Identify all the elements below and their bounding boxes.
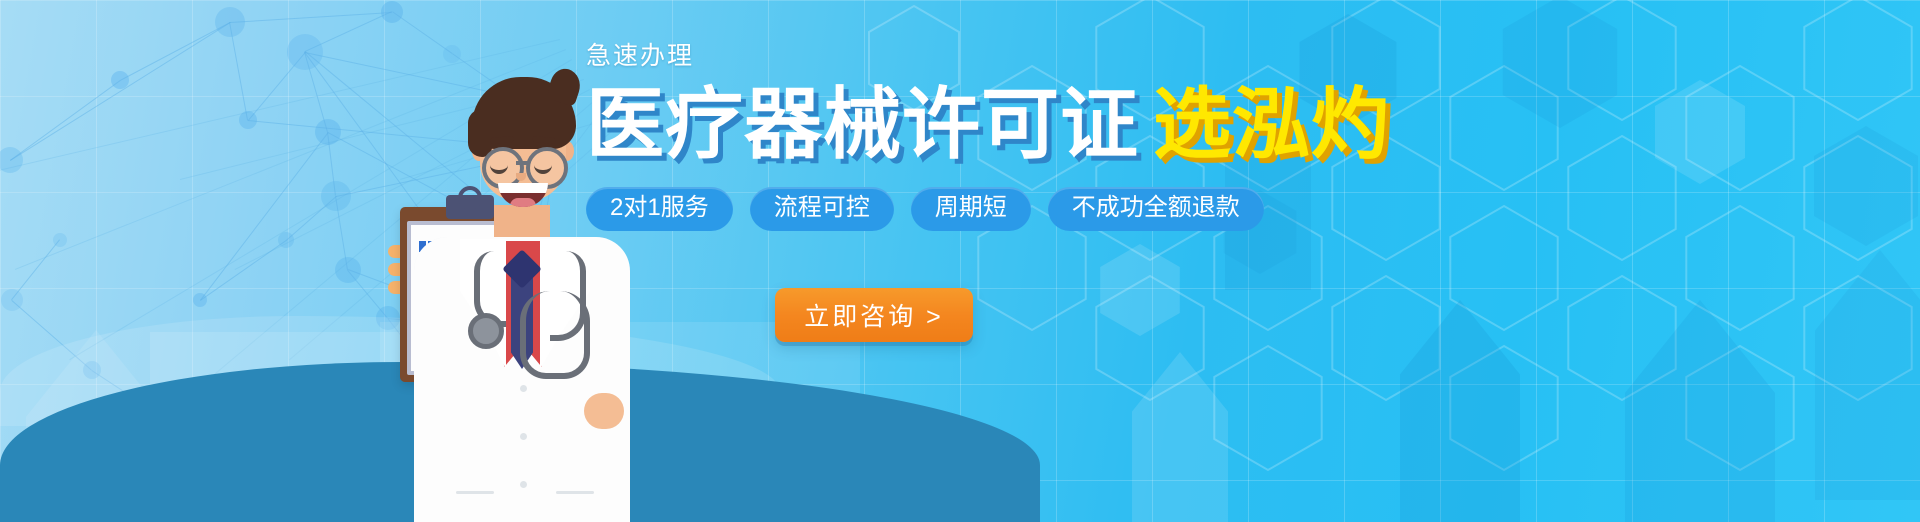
network-edge (335, 196, 348, 270)
arrow-shape (1132, 352, 1228, 522)
network-edge (327, 132, 336, 196)
arrow-shape (1400, 300, 1520, 522)
grid-line-vertical (0, 0, 1, 522)
hexagon-outline (1450, 66, 1557, 190)
grid-line-vertical (1536, 0, 1537, 522)
wave-light (0, 316, 780, 426)
doctor-hair-sideburn (468, 109, 492, 157)
coat-pocket-right (556, 491, 594, 494)
consult-now-button[interactable]: 立即咨询 > (775, 288, 973, 342)
grid-line-vertical (1824, 0, 1825, 522)
grid-line-vertical (384, 0, 385, 522)
network-edge (10, 22, 231, 161)
network-node (239, 111, 257, 129)
feature-pill-1[interactable]: 流程可控 (750, 187, 894, 231)
hexagon-outline (1214, 346, 1321, 470)
hexagon-outline (1568, 136, 1675, 260)
hexagon-solid (1503, 0, 1617, 128)
coat-button (520, 433, 527, 440)
doctor-teeth (498, 183, 548, 193)
grid-line-vertical (288, 0, 289, 522)
stethoscope-chestpiece (468, 313, 504, 349)
hexagon-outline (1804, 276, 1911, 400)
network-node (335, 257, 361, 283)
network-edge (230, 12, 392, 23)
network-edge (305, 11, 392, 52)
network-node (193, 293, 207, 307)
grid-line-vertical (1440, 0, 1441, 522)
hexagon-outline (1450, 346, 1557, 470)
coat-button (520, 481, 527, 488)
grid-line-horizontal (0, 480, 1920, 481)
network-node (215, 7, 245, 37)
network-edge (11, 239, 60, 300)
doctor-hand (584, 393, 624, 429)
network-node (53, 233, 67, 247)
network-edge (286, 196, 337, 241)
network-node (0, 147, 23, 173)
network-edge (11, 300, 92, 371)
hexagon-outline (1686, 346, 1793, 470)
network-edge (10, 80, 121, 161)
coat-pocket-left (456, 491, 494, 494)
hexagon-outline (1096, 276, 1203, 400)
doctor-illustration (432, 55, 612, 522)
hexagon-outline (1332, 276, 1439, 400)
doctor-mouth (498, 183, 548, 207)
feature-pill-3[interactable]: 不成功全额退款 (1048, 187, 1264, 231)
grid-line-vertical (192, 0, 193, 522)
network-node (321, 181, 351, 211)
arrow-shape (1815, 250, 1920, 500)
network-node (381, 1, 403, 23)
network-edge (392, 11, 453, 54)
grid-line-vertical (1632, 0, 1633, 522)
feature-pill-0[interactable]: 2对1服务 (586, 187, 733, 231)
network-node (111, 71, 129, 89)
network-node (159, 411, 177, 429)
network-node (1, 289, 23, 311)
network-node (278, 232, 294, 248)
arrow-shape (26, 330, 166, 522)
banner-copy: 急速办理 医疗器械许可证选泓灼 2对1服务 流程可控 周期短 不成功全额退款 (586, 44, 1286, 231)
headline: 医疗器械许可证选泓灼 (586, 85, 1286, 163)
network-edge (200, 132, 329, 301)
hexagon-outline (1804, 0, 1911, 120)
network-node (287, 34, 323, 70)
stethoscope-tube-loop (520, 291, 590, 379)
feature-pill-list: 2对1服务 流程可控 周期短 不成功全额退款 (586, 187, 1286, 231)
network-edge (229, 22, 248, 120)
network-edge (304, 52, 328, 132)
hexagon-solid (1814, 126, 1918, 246)
feature-pill-2[interactable]: 周期短 (911, 187, 1031, 231)
grid-line-horizontal (0, 0, 1920, 1)
headline-primary: 医疗器械许可证 (586, 80, 1139, 168)
network-edge (248, 52, 306, 121)
grid-line-vertical (1344, 0, 1345, 522)
network-node (376, 306, 400, 330)
doctor-tongue (510, 198, 536, 207)
hexagon-outline (1568, 0, 1675, 120)
network-edge (200, 240, 287, 301)
network-edge (168, 372, 430, 421)
hexagon-outline (1804, 136, 1911, 260)
promo-banner: 急速办理 医疗器械许可证选泓灼 2对1服务 流程可控 周期短 不成功全额退款 立… (0, 0, 1920, 522)
coat-button (520, 385, 527, 392)
network-edge (91, 370, 168, 421)
hexagon-solid (1100, 244, 1180, 336)
network-node (83, 361, 101, 379)
network-node (254, 422, 270, 438)
hexagon-outline (1568, 276, 1675, 400)
wave-block-a (150, 332, 400, 462)
hexagon-solid (1655, 80, 1745, 184)
arrow-shape (1625, 300, 1775, 522)
grid-line-horizontal (0, 384, 1920, 385)
network-node (315, 119, 341, 145)
network-edge (120, 22, 230, 81)
grid-line-vertical (96, 0, 97, 522)
hexagon-outline (1450, 206, 1557, 330)
glasses-bridge (516, 161, 528, 165)
headline-brand: 选泓灼 (1153, 80, 1390, 168)
hexagon-outline (1686, 66, 1793, 190)
eyebrow-text: 急速办理 (586, 44, 1286, 69)
network-edge (347, 270, 388, 319)
grid-line-vertical (1728, 0, 1729, 522)
hexagon-outline (1686, 206, 1793, 330)
